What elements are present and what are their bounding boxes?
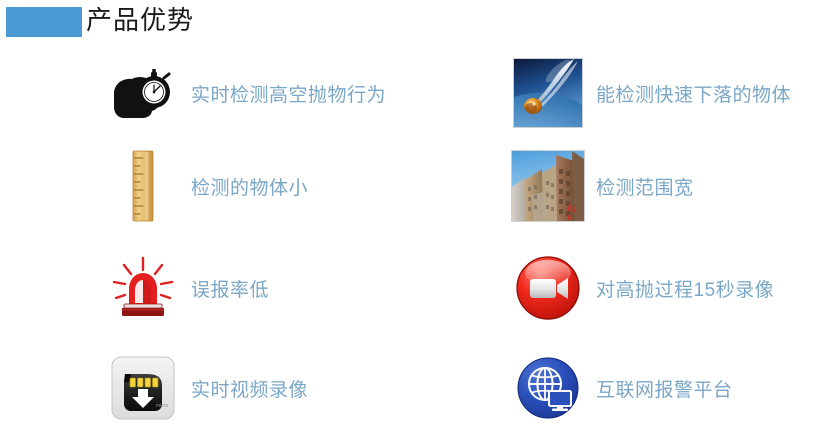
icon-slot	[95, 66, 191, 120]
feature-item-15s-recording[interactable]: 对高抛过程15秒录像	[500, 240, 774, 336]
feature-label: 实时检测高空抛物行为	[191, 80, 386, 107]
globe-monitor-icon	[516, 356, 580, 420]
page-title: 产品优势	[86, 2, 194, 38]
wooden-ruler-icon	[130, 150, 156, 222]
feature-label: 互联网报警平台	[596, 375, 733, 402]
feature-grid: 实时检测高空抛物行为	[0, 44, 823, 440]
icon-slot	[500, 150, 596, 222]
feature-label: 检测范围宽	[596, 173, 694, 200]
sd-card-download-icon: micro	[111, 356, 175, 420]
icon-slot	[95, 256, 191, 320]
icon-slot	[500, 58, 596, 128]
feature-item-realtime-detection[interactable]: 实时检测高空抛物行为	[95, 50, 386, 136]
feature-item-wide-detection-range[interactable]: 检测范围宽	[500, 136, 694, 236]
high-rise-buildings-photo	[511, 150, 585, 222]
falling-meteor-photo	[513, 58, 583, 128]
icon-slot	[500, 356, 596, 420]
red-video-camera-icon	[515, 255, 581, 321]
feature-label: 误报率低	[191, 275, 269, 302]
feature-item-small-object-detection[interactable]: 检测的物体小	[95, 136, 308, 236]
feature-label: 对高抛过程15秒录像	[596, 275, 774, 302]
feature-item-fast-falling-objects[interactable]: 能检测快速下落的物体	[500, 50, 791, 136]
feature-label: 实时视频录像	[191, 375, 308, 402]
feature-label: 能检测快速下落的物体	[596, 80, 791, 107]
feature-item-realtime-video-recording[interactable]: micro 实时视频录像	[95, 340, 308, 436]
icon-slot	[500, 255, 596, 321]
hand-holding-stopwatch-icon	[112, 66, 174, 120]
red-alarm-siren-icon	[108, 256, 178, 320]
feature-item-low-false-alarm[interactable]: 误报率低	[95, 240, 269, 336]
section-header: 产品优势	[0, 0, 823, 44]
icon-slot: micro	[95, 356, 191, 420]
header-accent-bar	[6, 7, 82, 37]
svg-text:micro: micro	[156, 403, 168, 409]
feature-label: 检测的物体小	[191, 173, 308, 200]
icon-slot	[95, 150, 191, 222]
feature-item-internet-alarm-platform[interactable]: 互联网报警平台	[500, 340, 733, 436]
